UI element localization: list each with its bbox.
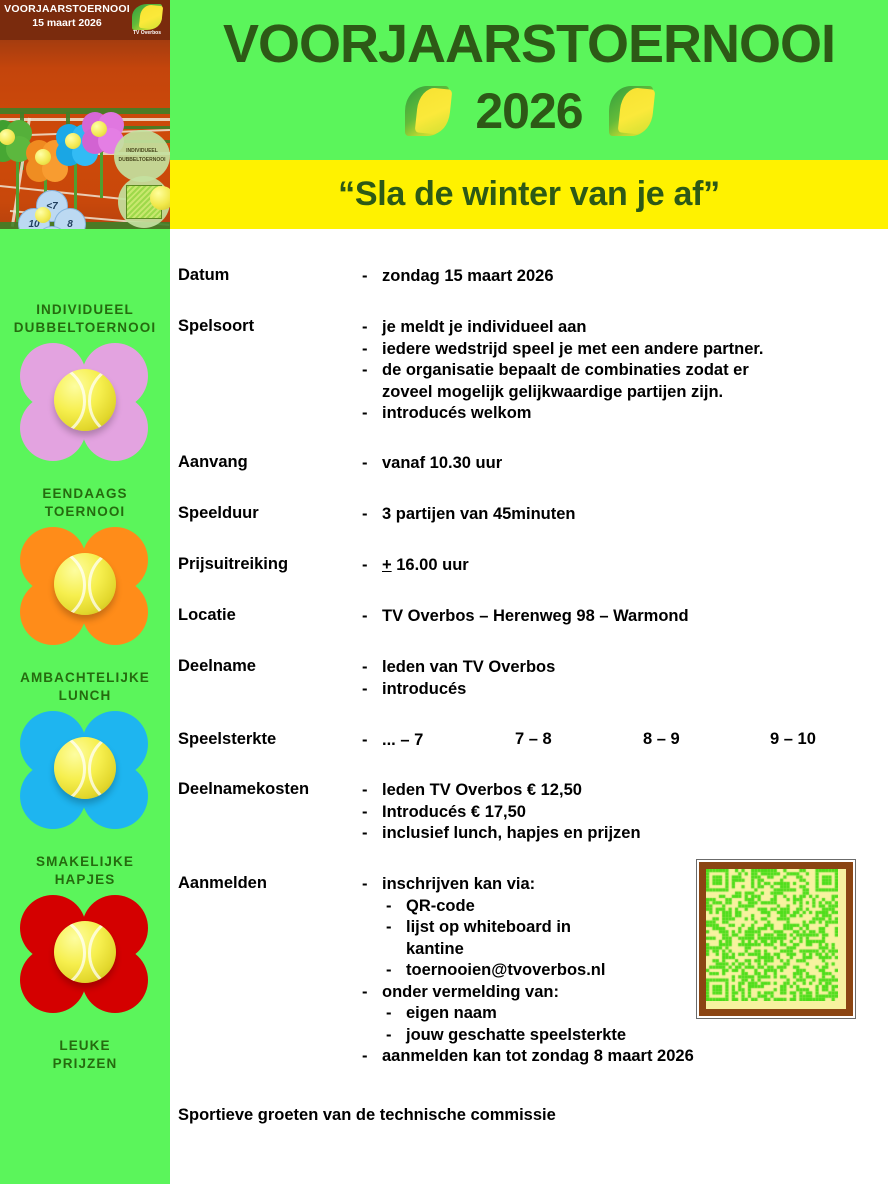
- detail-value: je meldt je individueel aan: [360, 317, 764, 339]
- strength-range: 7 – 8: [515, 730, 552, 749]
- detail-value: zondag 15 maart 2026: [360, 266, 554, 288]
- strength-level-flower: <7 10 8 9: [18, 190, 84, 229]
- detail-label: Spelsoort: [178, 317, 254, 336]
- sidebar-label-line-2: HAPJES: [0, 871, 170, 889]
- detail-label: Aanvang: [178, 453, 248, 472]
- sidebar-label-line-2: TOERNOOI: [0, 503, 170, 521]
- detail-values: leden TV Overbos € 12,50 Introducés € 17…: [360, 780, 641, 845]
- qr-code-frame: [699, 862, 853, 1016]
- detail-value: eigen naam: [360, 1003, 694, 1025]
- detail-values: 3 partijen van 45minuten: [360, 504, 575, 526]
- detail-value: leden TV Overbos € 12,50: [360, 780, 641, 802]
- sidebar-item-label: INDIVIDUEEL DUBBELTOERNOOI: [0, 301, 170, 337]
- approx-symbol: +: [382, 556, 392, 574]
- poster-details: Datum zondag 15 maart 2026 Spelsoort je …: [170, 229, 888, 1184]
- photo-bubble-tournament-type: INDIVIDUEEL DUBBELTOERNOOI: [114, 130, 170, 182]
- detail-value: zoveel mogelijk gelijkwaardige partijen …: [360, 382, 764, 404]
- sidebar-item-label: EENDAAGS TOERNOOI: [0, 485, 170, 521]
- sidebar-label-line-1: AMBACHTELIJKE: [0, 669, 170, 687]
- detail-value: + 16.00 uur: [360, 555, 469, 577]
- detail-value: QR-code: [360, 896, 694, 918]
- detail-value: vanaf 10.30 uur: [360, 453, 502, 475]
- tournament-photo-panel: VOORJAARSTOERNOOI 15 maart 2026 TV Overb…: [0, 0, 170, 229]
- sidebar-label-line-1: SMAKELIJKE: [0, 853, 170, 871]
- bubble-line-1: INDIVIDUEEL: [126, 147, 158, 156]
- detail-label: Speelsterkte: [178, 730, 276, 749]
- detail-label: Prijsuitreiking: [178, 555, 288, 574]
- flower-icon-red: [20, 895, 150, 1013]
- tennis-ball-icon: [150, 186, 170, 210]
- strength-range: 8 – 9: [643, 730, 680, 749]
- sidebar-label-line-2: DUBBELTOERNOOI: [0, 319, 170, 337]
- detail-values: ... – 7: [360, 730, 423, 752]
- sidebar-item-smakelijke-hapjes: SMAKELIJKE HAPJES: [0, 853, 170, 1013]
- detail-value: Introducés € 17,50: [360, 802, 641, 824]
- detail-value: inclusief lunch, hapjes en prijzen: [360, 823, 641, 845]
- poster-subtitle: “Sla de winter van je af”: [338, 175, 720, 214]
- flower-icon-pink: [20, 343, 150, 461]
- detail-values: + 16.00 uur: [360, 555, 469, 577]
- footer-greeting: Sportieve groeten van de technische comm…: [178, 1106, 556, 1125]
- sidebar-item-individueel-dubbeltoernooi: INDIVIDUEEL DUBBELTOERNOOI: [0, 301, 170, 461]
- sidebar-label-line-1: LEUKE: [0, 1037, 170, 1055]
- detail-label: Datum: [178, 266, 229, 285]
- detail-value: onder vermelding van:: [360, 982, 694, 1004]
- club-logo-label: TV Overbos: [126, 30, 168, 36]
- detail-label: Deelnamekosten: [178, 780, 309, 799]
- detail-label: Deelname: [178, 657, 256, 676]
- detail-value: iedere wedstrijd speel je met een andere…: [360, 339, 764, 361]
- detail-value: TV Overbos – Herenweg 98 – Warmond: [360, 606, 689, 628]
- sidebar-label-line-2: PRIJZEN: [0, 1055, 170, 1073]
- tennis-ball-icon: [54, 737, 116, 799]
- detail-value-email[interactable]: toernooien@tvoverbos.nl: [360, 960, 694, 982]
- sidebar-item-ambachtelijke-lunch: AMBACHTELIJKE LUNCH: [0, 669, 170, 829]
- sidebar-label-line-2: LUNCH: [0, 687, 170, 705]
- sidebar-item-label: LEUKE PRIJZEN: [0, 1037, 170, 1073]
- detail-value: 3 partijen van 45minuten: [360, 504, 575, 526]
- club-logo-icon: [132, 4, 162, 30]
- sidebar-label-line-1: EENDAAGS: [0, 485, 170, 503]
- detail-values: je meldt je individueel aan iedere wedst…: [360, 317, 764, 425]
- detail-value: jouw geschatte speelsterkte: [360, 1025, 694, 1047]
- tennis-ball-icon: [54, 921, 116, 983]
- detail-values: vanaf 10.30 uur: [360, 453, 502, 475]
- detail-values: leden van TV Overbos introducés: [360, 657, 555, 700]
- detail-value: lijst op whiteboard in: [360, 917, 694, 939]
- detail-label: Locatie: [178, 606, 236, 625]
- sidebar-item-leuke-prijzen: LEUKE PRIJZEN: [0, 1037, 170, 1073]
- feature-sidebar: INDIVIDUEEL DUBBELTOERNOOI EENDAAGS TOER…: [0, 229, 170, 1184]
- detail-values: TV Overbos – Herenweg 98 – Warmond: [360, 606, 689, 628]
- bubble-line-2: DUBBELTOERNOOI: [118, 156, 165, 165]
- tennis-ball-logo-icon: [405, 86, 449, 136]
- photo-banner-date: 15 maart 2026: [0, 17, 134, 29]
- strength-range: ... – 7: [360, 730, 423, 752]
- tennis-ball-icon: [54, 369, 116, 431]
- photo-banner-title: VOORJAARSTOERNOOI: [0, 3, 134, 15]
- flower-icon-blue: [20, 711, 150, 829]
- detail-value: introducés: [360, 679, 555, 701]
- detail-value-text: 16.00 uur: [396, 556, 468, 574]
- poster-header: VOORJAARSTOERNOOI 2026: [170, 0, 888, 160]
- strength-range: 9 – 10: [770, 730, 816, 749]
- poster-subtitle-bar: “Sla de winter van je af”: [170, 160, 888, 229]
- sidebar-item-eendaags-toernooi: EENDAAGS TOERNOOI: [0, 485, 170, 645]
- page-title: VOORJAARSTOERNOOI: [170, 17, 888, 71]
- flower-icon-orange: [20, 527, 150, 645]
- detail-value: de organisatie bepaalt de combinaties zo…: [360, 360, 764, 382]
- sidebar-item-label: SMAKELIJKE HAPJES: [0, 853, 170, 889]
- detail-value: inschrijven kan via:: [360, 874, 694, 896]
- qr-code[interactable]: [696, 859, 856, 1019]
- qr-code-pattern: [706, 869, 838, 1001]
- detail-value: kantine: [360, 939, 694, 961]
- detail-value: leden van TV Overbos: [360, 657, 555, 679]
- sidebar-label-line-1: INDIVIDUEEL: [0, 301, 170, 319]
- detail-value: aanmelden kan tot zondag 8 maart 2026: [360, 1046, 694, 1068]
- year-label: 2026: [475, 82, 582, 140]
- year-row: 2026: [170, 82, 888, 140]
- detail-value: introducés welkom: [360, 403, 764, 425]
- sidebar-item-label: AMBACHTELIJKE LUNCH: [0, 669, 170, 705]
- tennis-ball-logo-icon: [609, 86, 653, 136]
- tennis-ball-icon: [54, 553, 116, 615]
- detail-label: Speelduur: [178, 504, 259, 523]
- detail-label: Aanmelden: [178, 874, 267, 893]
- detail-values: zondag 15 maart 2026: [360, 266, 554, 288]
- strength-level-value: 8: [54, 208, 86, 229]
- detail-values: inschrijven kan via: QR-code lijst op wh…: [360, 874, 694, 1068]
